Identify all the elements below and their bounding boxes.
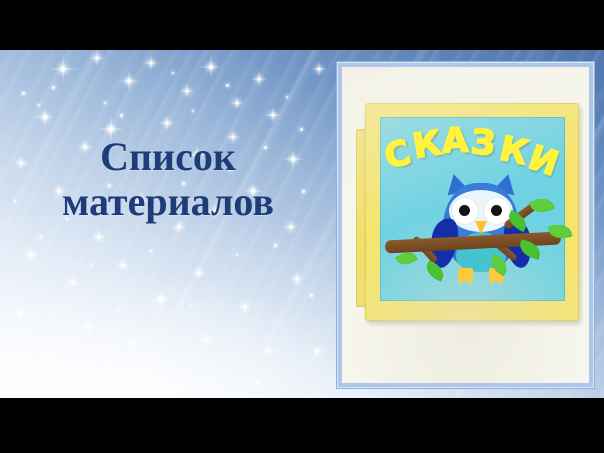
sparkle-dot — [52, 86, 55, 89]
book-title-letter: З — [470, 125, 497, 161]
sparkle-dot — [22, 92, 25, 95]
owl-beak — [475, 221, 487, 234]
letterbox-bar-top — [0, 0, 604, 50]
sparkle-dot — [104, 102, 106, 104]
sparkle-dot — [150, 250, 152, 252]
video-frame: Список материалов СКАЗКИ — [0, 0, 604, 453]
headline-line-2: материалов — [8, 179, 328, 224]
sparkle-dot — [118, 308, 120, 310]
headline-line-1: Список — [100, 134, 236, 179]
sparkle-dot — [38, 104, 40, 106]
book-title-letter: С — [381, 135, 414, 175]
sparkle-dot — [310, 294, 313, 297]
photo-image: СКАЗКИ — [342, 67, 589, 383]
sparkle-dot — [300, 128, 303, 131]
owl-pupil-right — [491, 205, 502, 216]
sparkle-dot — [90, 264, 92, 266]
sparkle-dot — [26, 340, 29, 343]
photo-panel: СКАЗКИ — [336, 61, 595, 389]
owl-pupil-left — [459, 205, 470, 216]
owl-foot-left — [458, 268, 473, 281]
sparkle-dot — [190, 304, 192, 306]
sparkle-dot — [70, 360, 72, 362]
sparkle-dot — [274, 244, 277, 247]
book-title-letter: К — [411, 126, 444, 164]
book-title-letter: А — [441, 124, 468, 159]
book-cover: СКАЗКИ — [365, 103, 579, 321]
slide-headline: Список материалов — [8, 134, 328, 224]
letterbox-bar-bottom — [0, 398, 604, 453]
felt-book: СКАЗКИ — [356, 103, 577, 319]
sparkle-dot — [226, 84, 229, 87]
sparkle-dot — [168, 368, 170, 370]
sparkle-dot — [236, 254, 238, 256]
sparkle-dot — [192, 110, 194, 112]
sparkle-dot — [286, 96, 288, 98]
presentation-slide: Список материалов СКАЗКИ — [0, 50, 604, 398]
sparkle-dot — [120, 114, 123, 117]
sparkle-dot — [256, 380, 259, 383]
sparkle-dot — [172, 72, 174, 74]
book-cover-inner-panel: СКАЗКИ — [380, 117, 565, 301]
book-title-letters: СКАЗКИ — [381, 124, 564, 178]
sparkle-dot — [40, 236, 42, 238]
